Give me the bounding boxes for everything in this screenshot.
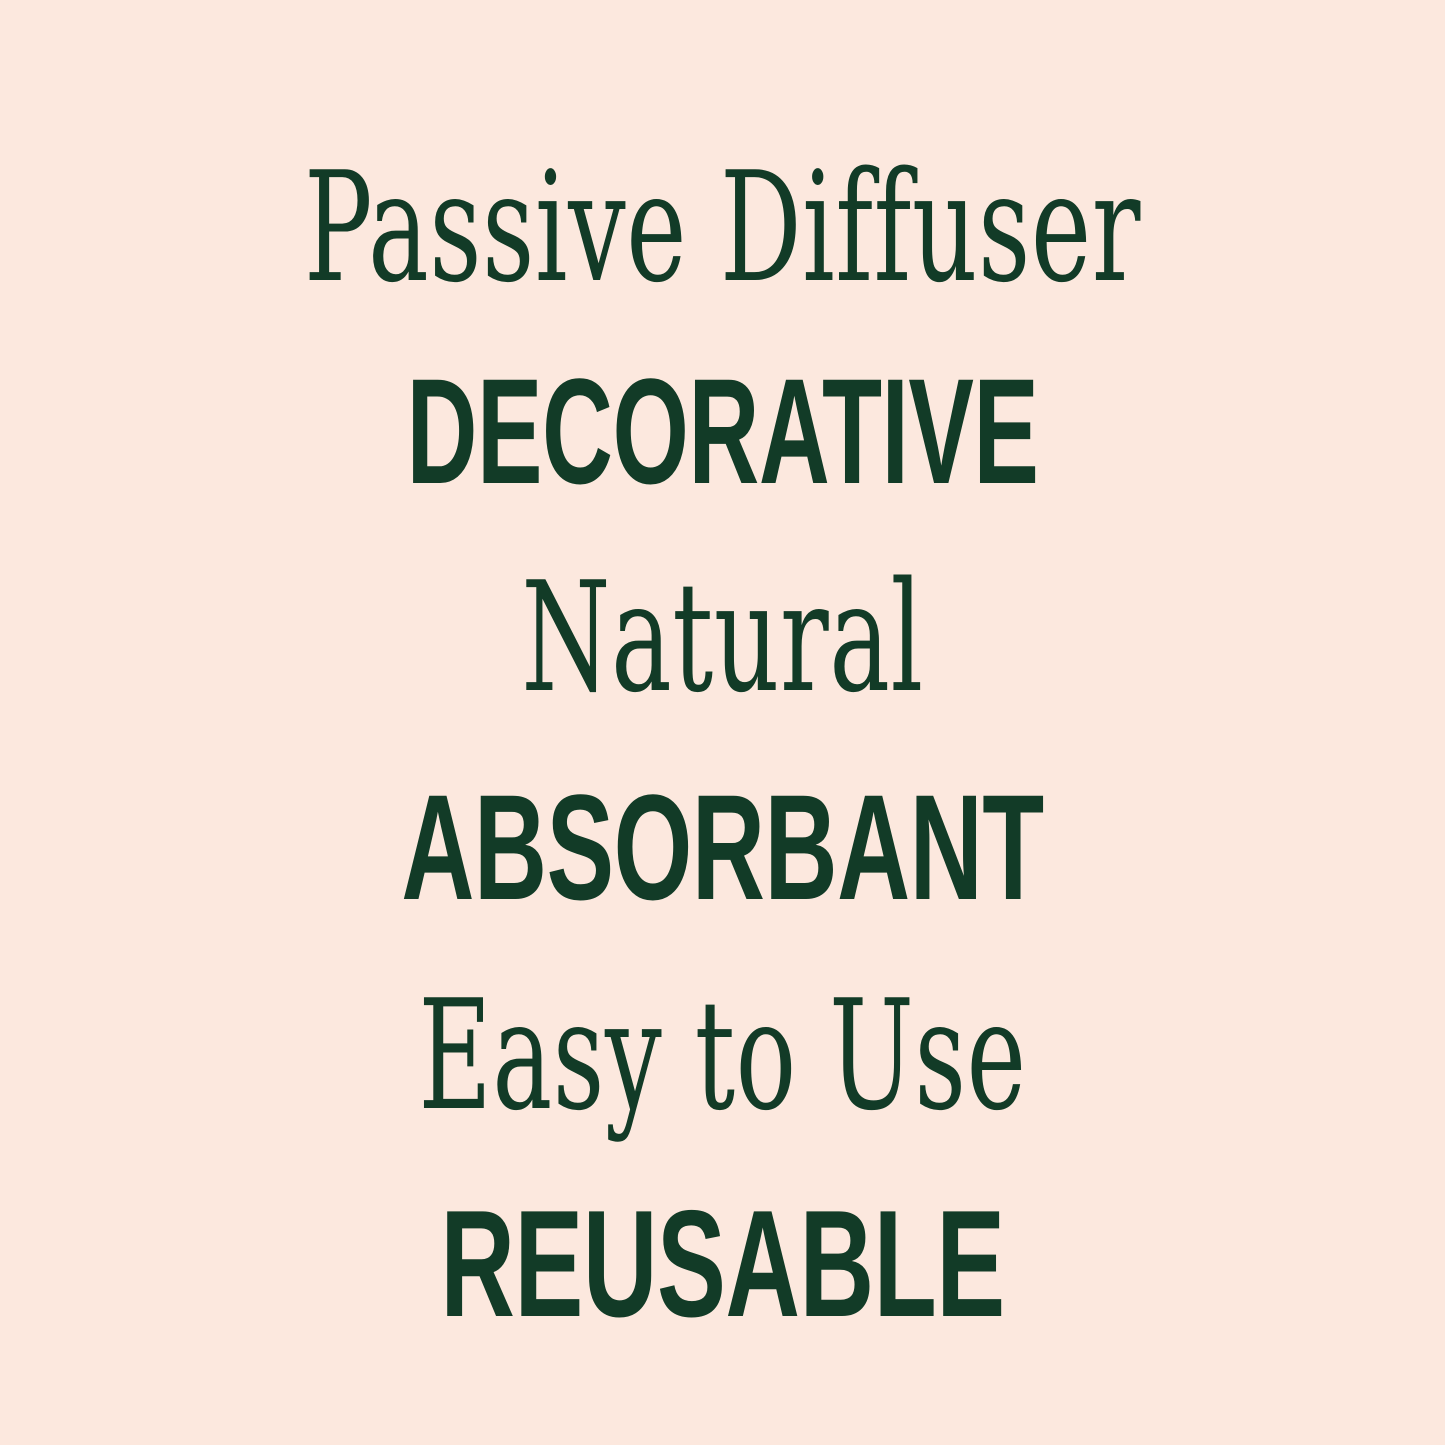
feature-decorative: DECORATIVE: [249, 356, 1195, 506]
feature-passive-diffuser: Passive Diffuser: [184, 152, 1261, 304]
feature-easy-to-use: Easy to Use: [191, 980, 1253, 1132]
feature-reusable: REUSABLE: [231, 1188, 1214, 1340]
product-feature-card: Passive Diffuser DECORATIVE Natural ABSO…: [0, 0, 1445, 1445]
feature-absorbant: ABSORBANT: [235, 772, 1210, 922]
feature-natural: Natural: [184, 562, 1261, 714]
